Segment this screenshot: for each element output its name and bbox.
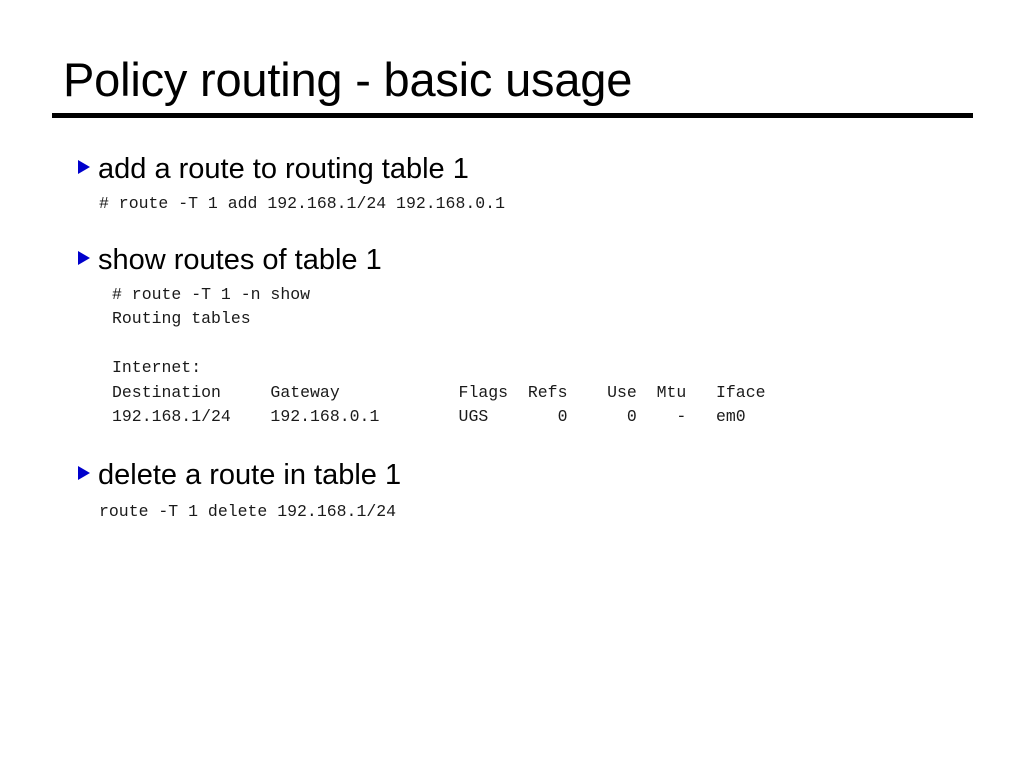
bullet-item-add-route[interactable]: add a route to routing table 1 bbox=[0, 152, 1024, 186]
code-block-show-routes: # route -T 1 -n show Routing tables Inte… bbox=[0, 283, 1024, 430]
bullet-label-show-routes: show routes of table 1 bbox=[98, 243, 382, 277]
bullet-item-delete-route[interactable]: delete a route in table 1 bbox=[0, 458, 1024, 492]
spacer bbox=[0, 217, 1024, 243]
bullet-label-delete-route: delete a route in table 1 bbox=[98, 458, 401, 492]
triangle-right-icon bbox=[78, 251, 90, 265]
bullet-group-show-routes: show routes of table 1 # route -T 1 -n s… bbox=[0, 243, 1024, 430]
spacer bbox=[0, 492, 1024, 500]
triangle-right-icon bbox=[78, 160, 90, 174]
bullet-group-delete-route: delete a route in table 1 route -T 1 del… bbox=[0, 458, 1024, 525]
page-title: Policy routing - basic usage bbox=[52, 52, 973, 108]
triangle-right-icon bbox=[78, 466, 90, 480]
slide-body: add a route to routing table 1 # route -… bbox=[0, 152, 1024, 524]
title-block: Policy routing - basic usage bbox=[52, 52, 973, 118]
bullet-group-add-route: add a route to routing table 1 # route -… bbox=[0, 152, 1024, 217]
code-block-delete-route: route -T 1 delete 192.168.1/24 bbox=[0, 500, 1024, 525]
slide-canvas: Policy routing - basic usage add a route… bbox=[0, 0, 1024, 768]
bullet-label-add-route: add a route to routing table 1 bbox=[98, 152, 469, 186]
spacer bbox=[0, 430, 1024, 458]
title-underline-rule bbox=[52, 113, 973, 118]
bullet-item-show-routes[interactable]: show routes of table 1 bbox=[0, 243, 1024, 277]
code-block-add-route: # route -T 1 add 192.168.1/24 192.168.0.… bbox=[0, 192, 1024, 217]
